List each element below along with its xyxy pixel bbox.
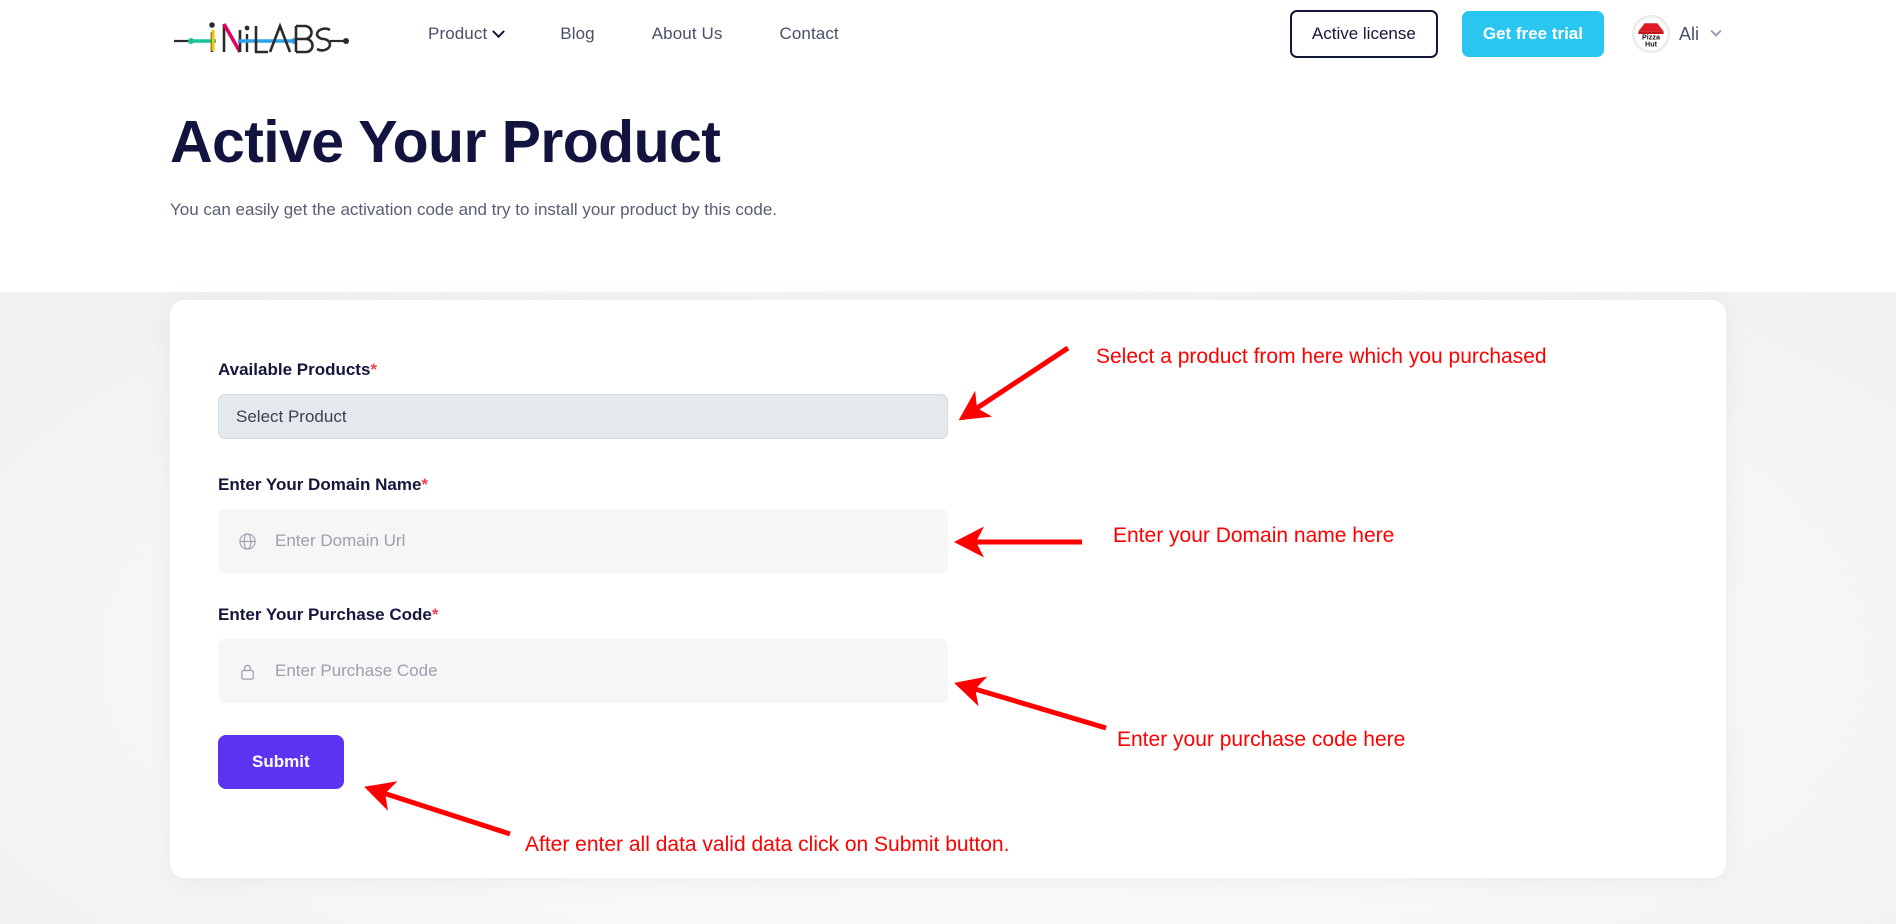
domain-url-input[interactable]: Enter Domain Url <box>218 509 948 573</box>
nav-item-contact[interactable]: Contact <box>779 24 838 44</box>
domain-url-placeholder: Enter Domain Url <box>275 531 405 551</box>
user-name-label: Ali <box>1679 24 1699 45</box>
site-header: Product Blog About Us Contact Active lic… <box>0 0 1896 68</box>
pizza-hut-avatar: Pizza Hut <box>1632 15 1670 53</box>
get-free-trial-button[interactable]: Get free trial <box>1462 11 1604 57</box>
required-asterisk: * <box>421 475 428 494</box>
form-spacer <box>218 439 948 475</box>
chevron-down-icon <box>1710 26 1721 37</box>
available-products-selected-value: Select Product <box>236 407 347 427</box>
nav-item-about-us-label: About Us <box>652 24 723 44</box>
nav-item-product[interactable]: Product <box>428 24 503 44</box>
available-products-select[interactable]: Select Product <box>218 394 948 439</box>
available-products-label: Available Products* <box>218 360 948 380</box>
lock-icon <box>238 662 257 681</box>
available-products-label-text: Available Products <box>218 360 370 379</box>
active-license-button[interactable]: Active license <box>1290 10 1438 58</box>
nav-item-blog[interactable]: Blog <box>560 24 594 44</box>
activation-card: Available Products* Select Product Enter… <box>170 300 1726 878</box>
domain-name-label-text: Enter Your Domain Name <box>218 475 421 494</box>
user-menu[interactable]: Pizza Hut Ali <box>1632 15 1720 53</box>
page-root: Product Blog About Us Contact Active lic… <box>0 0 1896 924</box>
hero-section: Active Your Product You can easily get t… <box>170 112 777 220</box>
submit-button[interactable]: Submit <box>218 735 344 789</box>
nav-item-product-label: Product <box>428 24 487 44</box>
page-title: Active Your Product <box>170 112 777 174</box>
purchase-code-input[interactable]: Enter Purchase Code <box>218 639 948 703</box>
nav-item-blog-label: Blog <box>560 24 594 44</box>
inilabs-logo[interactable] <box>172 10 350 58</box>
header-actions: Active license Get free trial Pizza Hut … <box>1290 10 1720 58</box>
svg-text:Hut: Hut <box>1645 40 1658 49</box>
nav-item-contact-label: Contact <box>779 24 838 44</box>
main-nav: Product Blog About Us Contact <box>428 24 839 44</box>
activation-form: Available Products* Select Product Enter… <box>218 360 948 789</box>
domain-name-label: Enter Your Domain Name* <box>218 475 948 495</box>
purchase-code-label-text: Enter Your Purchase Code <box>218 605 432 624</box>
chevron-down-icon <box>492 25 505 38</box>
page-subtitle: You can easily get the activation code a… <box>170 200 777 220</box>
purchase-code-label: Enter Your Purchase Code* <box>218 605 948 625</box>
required-asterisk: * <box>432 605 439 624</box>
form-spacer <box>218 573 948 605</box>
nav-item-about-us[interactable]: About Us <box>652 24 723 44</box>
globe-icon <box>238 532 257 551</box>
required-asterisk: * <box>370 360 377 379</box>
purchase-code-placeholder: Enter Purchase Code <box>275 661 438 681</box>
